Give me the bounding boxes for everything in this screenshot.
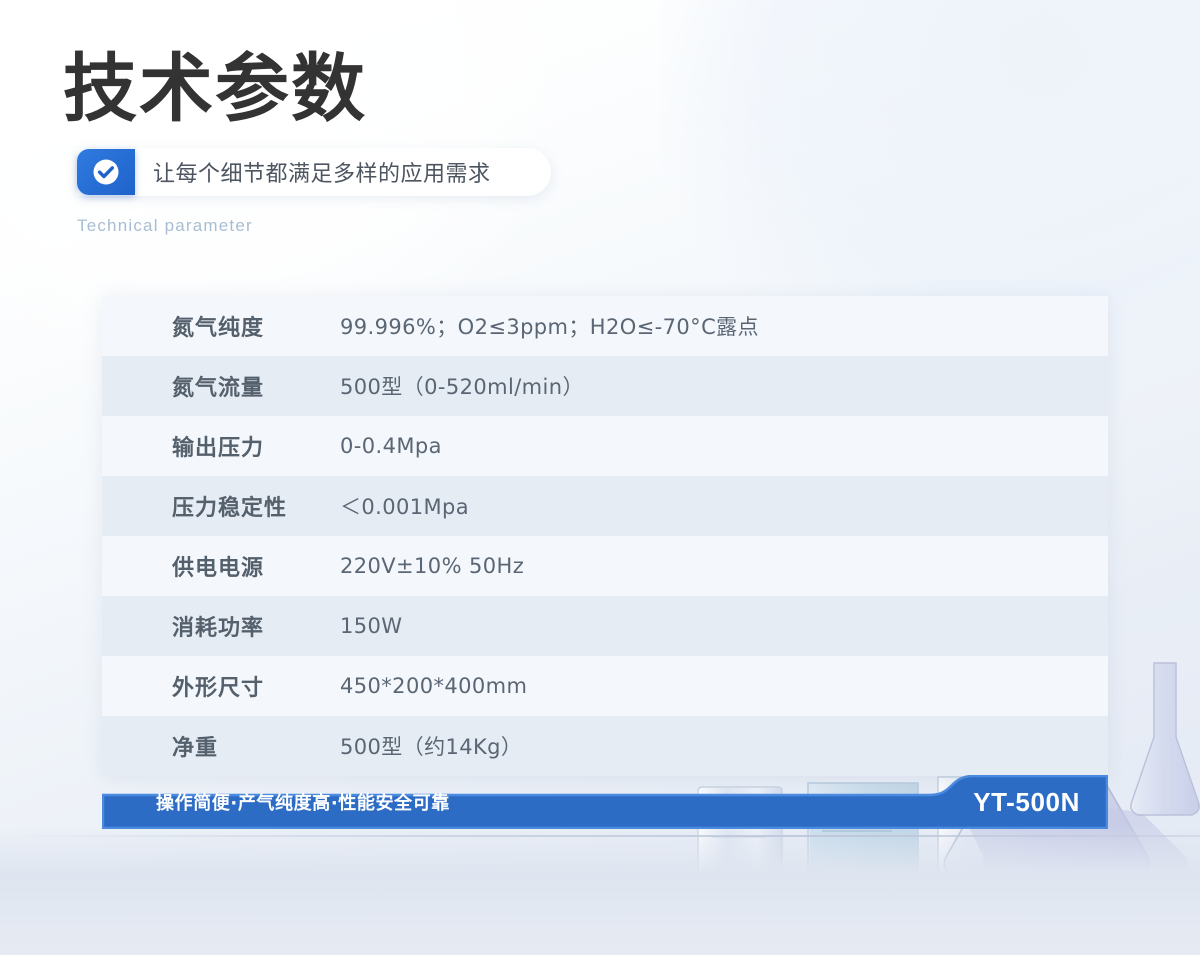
spec-value: 150W	[340, 614, 402, 638]
table-row: 氮气纯度 99.996%；O2≤3ppm；H2O≤-70°C露点	[102, 296, 1108, 356]
table-row: 氮气流量 500型（0-520ml/min）	[102, 356, 1108, 416]
technical-parameter-page: 技术参数 让每个细节都满足多样的应用需求 Technical parameter…	[0, 0, 1200, 955]
spec-value: 500型（约14Kg）	[340, 731, 522, 761]
table-row: 净重 500型（约14Kg）	[102, 716, 1108, 776]
spec-label: 外形尺寸	[102, 670, 340, 702]
product-model-badge: YT-500N	[973, 775, 1080, 829]
subtitle-text: 让每个细节都满足多样的应用需求	[153, 156, 491, 188]
footer-tagline: 操作简便·产气纯度高·性能安全可靠	[156, 775, 450, 829]
subtitle-row: 让每个细节都满足多样的应用需求	[77, 148, 551, 196]
spec-table: 氮气纯度 99.996%；O2≤3ppm；H2O≤-70°C露点 氮气流量 50…	[102, 296, 1108, 776]
spec-label: 净重	[102, 730, 340, 762]
spec-label: 氮气纯度	[102, 310, 340, 342]
spec-label: 供电电源	[102, 550, 340, 582]
table-row: 压力稳定性 ＜0.001Mpa	[102, 476, 1108, 536]
spec-value: 99.996%；O2≤3ppm；H2O≤-70°C露点	[340, 311, 759, 341]
spec-value: 500型（0-520ml/min）	[340, 371, 584, 401]
spec-value: ＜0.001Mpa	[340, 491, 469, 521]
table-row: 消耗功率 150W	[102, 596, 1108, 656]
spec-label: 氮气流量	[102, 370, 340, 402]
spec-label: 输出压力	[102, 430, 340, 462]
spec-label: 消耗功率	[102, 610, 340, 642]
spec-value: 220V±10% 50Hz	[340, 554, 524, 578]
table-row: 外形尺寸 450*200*400mm	[102, 656, 1108, 716]
check-circle-icon	[77, 149, 135, 195]
page-header: 技术参数 让每个细节都满足多样的应用需求 Technical parameter	[63, 46, 763, 236]
counter-surface	[0, 825, 1200, 955]
table-row: 输出压力 0-0.4Mpa	[102, 416, 1108, 476]
table-row: 供电电源 220V±10% 50Hz	[102, 536, 1108, 596]
subtitle-english: Technical parameter	[77, 216, 763, 236]
footer-bar: 操作简便·产气纯度高·性能安全可靠 YT-500N	[102, 775, 1108, 829]
counter-edge-line	[0, 835, 1200, 837]
spec-label: 压力稳定性	[102, 490, 340, 522]
page-title: 技术参数	[63, 46, 763, 132]
spec-value: 0-0.4Mpa	[340, 434, 442, 458]
spec-value: 450*200*400mm	[340, 674, 527, 698]
